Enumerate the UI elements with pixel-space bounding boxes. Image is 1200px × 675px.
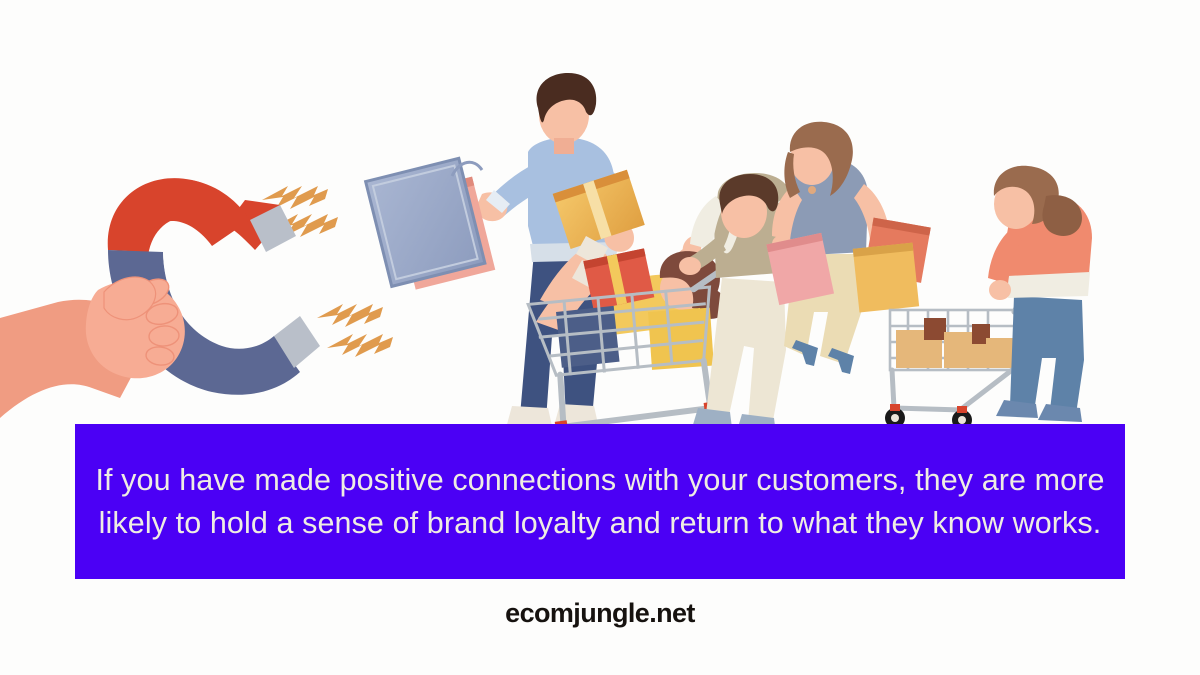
- man2-hand: [679, 257, 701, 275]
- woman3-sweater-hem: [1008, 272, 1090, 298]
- man1-blue-bag: [366, 158, 485, 286]
- brand-logo: ecomjungle.net: [0, 598, 1200, 629]
- figure-woman-pushing-cart: [988, 166, 1092, 422]
- magnet-red-arm-curve: [108, 178, 250, 252]
- magnet-wave-icon-4: [327, 334, 393, 357]
- caption-banner: If you have made positive connections wi…: [75, 424, 1125, 579]
- woman2-necklace: [808, 186, 816, 194]
- woman2-heel-right: [828, 348, 854, 374]
- woman3-ponytail: [1042, 195, 1082, 236]
- woman2-orange-bag: [853, 243, 919, 313]
- caption-text: If you have made positive connections wi…: [95, 459, 1105, 545]
- magnet-group: [0, 178, 393, 418]
- woman3-legs: [1010, 296, 1084, 414]
- woman2-heel-left: [792, 340, 818, 366]
- brand-logo-text: ecomjungle.net: [505, 598, 695, 629]
- poster-canvas: If you have made positive connections wi…: [0, 0, 1200, 675]
- woman3-hand: [989, 280, 1011, 300]
- man1-neck: [554, 138, 574, 154]
- magnet-wave-icon-3: [317, 304, 383, 327]
